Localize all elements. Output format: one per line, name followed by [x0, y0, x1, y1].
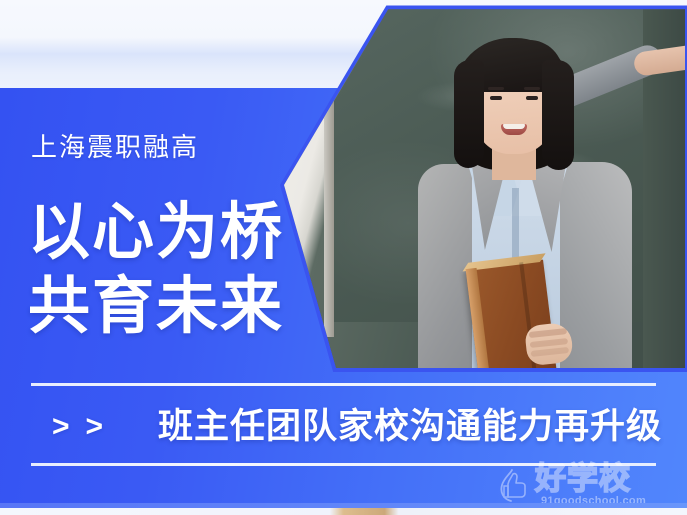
hair-left [454, 60, 484, 168]
headline: 以心为桥 共育未来 [28, 196, 284, 344]
smiling-mouth [501, 124, 527, 135]
bottom-blue-sliver [0, 503, 687, 508]
divider-top [31, 383, 656, 386]
bottom-edge-strip [0, 503, 687, 515]
watermark-brand: 好学校 [535, 462, 631, 496]
eyebrow-left [488, 87, 504, 90]
hair-right [542, 60, 574, 170]
promo-banner: 上海震职融高 以心为桥 共育未来 >> 班主任团队家校沟通能力再升级 好学校 9… [0, 0, 687, 515]
headline-line-1: 以心为桥 [28, 196, 284, 270]
subheadline: 班主任团队家校沟通能力再升级 [158, 404, 662, 450]
brand-kicker: 上海震职融高 [31, 134, 199, 160]
eyebrow-right [524, 87, 540, 90]
teacher-figure [376, 38, 685, 368]
chevron-marks: >> [52, 406, 119, 448]
eye-right [526, 96, 538, 100]
headline-line-2: 共育未来 [28, 270, 284, 344]
eye-left [490, 96, 502, 100]
thumbs-up-icon [499, 468, 533, 504]
